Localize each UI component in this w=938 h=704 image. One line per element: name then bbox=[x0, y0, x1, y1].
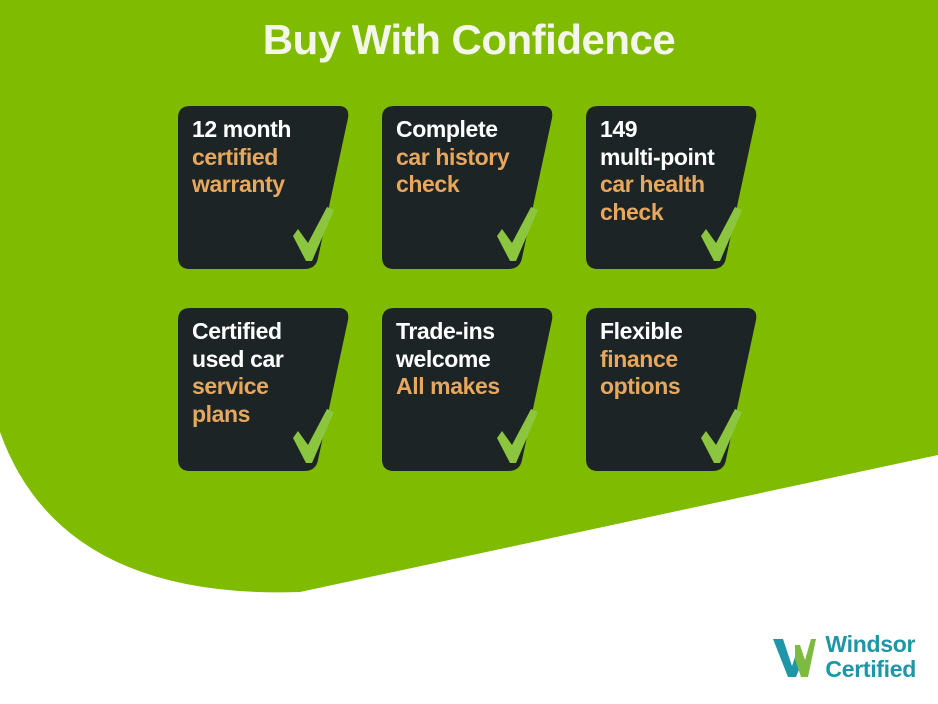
feature-card-car-history-check[interactable]: Complete car history check bbox=[382, 106, 554, 269]
card-line: warranty bbox=[192, 171, 342, 199]
feature-card-grid: 12 month certified warranty Complete car… bbox=[178, 106, 758, 471]
card-row-2: Certified used car service plans Trade-i… bbox=[178, 308, 758, 471]
card-line: service bbox=[192, 373, 342, 401]
feature-card-service-plans[interactable]: Certified used car service plans bbox=[178, 308, 350, 471]
card-line: 12 month bbox=[192, 116, 342, 144]
windsor-w-icon bbox=[771, 635, 817, 679]
card-line: Flexible bbox=[600, 318, 750, 346]
feature-card-certified-warranty[interactable]: 12 month certified warranty bbox=[178, 106, 350, 269]
card-line: finance bbox=[600, 346, 750, 374]
card-line: All makes bbox=[396, 373, 546, 401]
card-line: welcome bbox=[396, 346, 546, 374]
card-text-block: Flexible finance options bbox=[600, 318, 750, 401]
check-mark-icon bbox=[698, 205, 744, 263]
card-text-block: Trade-ins welcome All makes bbox=[396, 318, 546, 401]
card-line: Trade-ins bbox=[396, 318, 546, 346]
card-line: car history bbox=[396, 144, 546, 172]
card-line: Certified bbox=[192, 318, 342, 346]
feature-card-multi-point-check[interactable]: 149 multi-point car health check bbox=[586, 106, 758, 269]
feature-card-trade-ins-welcome[interactable]: Trade-ins welcome All makes bbox=[382, 308, 554, 471]
card-row-1: 12 month certified warranty Complete car… bbox=[178, 106, 758, 269]
logo-wordmark: Windsor Certified bbox=[825, 632, 916, 682]
card-line: options bbox=[600, 373, 750, 401]
logo-line-1: Windsor bbox=[825, 632, 916, 657]
check-mark-icon bbox=[494, 205, 540, 263]
card-line: multi-point bbox=[600, 144, 750, 172]
card-line: used car bbox=[192, 346, 342, 374]
poster-canvas: Buy With Confidence 12 month certified w… bbox=[0, 0, 938, 704]
page-title: Buy With Confidence bbox=[0, 16, 938, 64]
logo-line-2: Certified bbox=[825, 657, 916, 682]
check-mark-icon bbox=[698, 407, 744, 465]
card-line: car health bbox=[600, 171, 750, 199]
card-line: check bbox=[396, 171, 546, 199]
check-mark-icon bbox=[494, 407, 540, 465]
check-mark-icon bbox=[290, 407, 336, 465]
card-line: Complete bbox=[396, 116, 546, 144]
card-text-block: 12 month certified warranty bbox=[192, 116, 342, 199]
feature-card-flexible-finance[interactable]: Flexible finance options bbox=[586, 308, 758, 471]
card-text-block: Complete car history check bbox=[396, 116, 546, 199]
windsor-certified-logo[interactable]: Windsor Certified bbox=[771, 632, 916, 682]
check-mark-icon bbox=[290, 205, 336, 263]
card-line: certified bbox=[192, 144, 342, 172]
card-line: 149 bbox=[600, 116, 750, 144]
